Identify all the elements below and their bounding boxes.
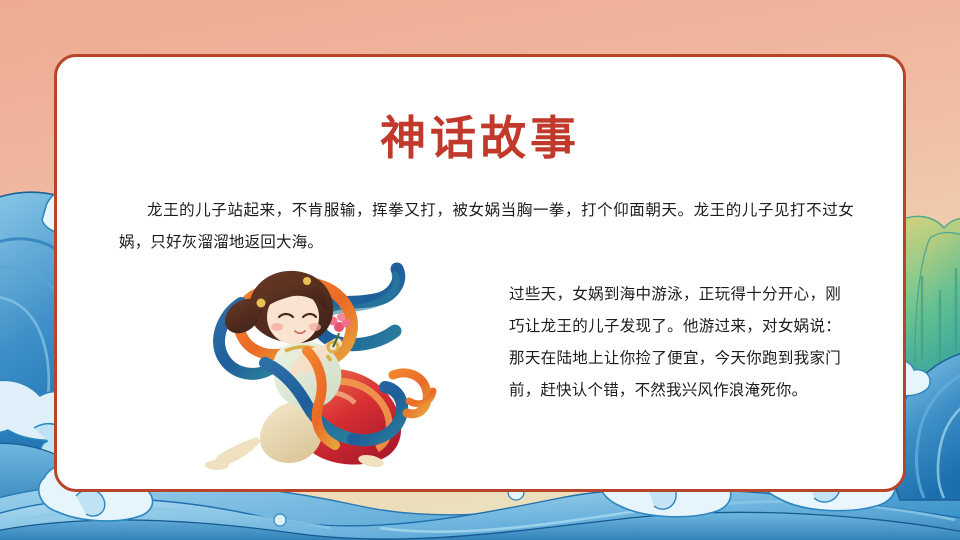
page-title: 神话故事	[57, 115, 903, 161]
slide-canvas: 神话故事 龙王的儿子站起来，不肯服输，挥拳又打，被女娲当胸一拳，打个仰面朝天。龙…	[0, 0, 960, 540]
nuwa-girl-illustration	[157, 255, 457, 485]
content-card: 神话故事 龙王的儿子站起来，不肯服输，挥拳又打，被女娲当胸一拳，打个仰面朝天。龙…	[54, 54, 906, 492]
paragraph-top: 龙王的儿子站起来，不肯服输，挥拳又打，被女娲当胸一拳，打个仰面朝天。龙王的儿子见…	[119, 195, 854, 259]
paragraph-right: 过些天，女娲到海中游泳，正玩得十分开心，刚巧让龙王的儿子发现了。他游过来，对女娲…	[509, 279, 841, 407]
